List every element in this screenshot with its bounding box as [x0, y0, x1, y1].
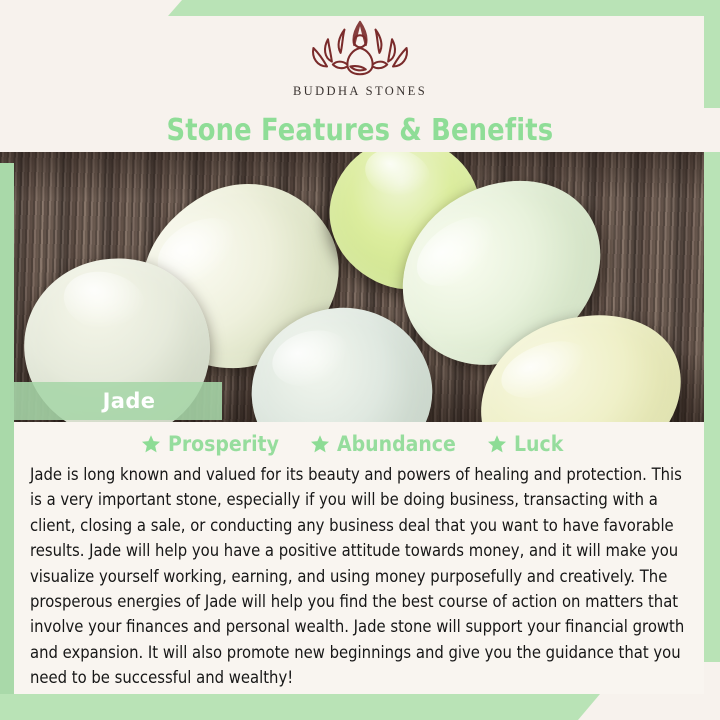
brand-header: BUDDHA STONES — [0, 0, 720, 112]
benefit-item: Prosperity — [141, 432, 291, 456]
stone-name-label: Jade — [77, 389, 156, 413]
benefit-item: Luck — [487, 432, 569, 456]
star-icon — [487, 434, 507, 454]
lotus-meditation-icon — [301, 16, 419, 82]
decorative-band-left — [0, 163, 14, 697]
stone-description: Jade is long known and valued for its be… — [30, 462, 688, 691]
page-title: Stone Features & Benefits — [167, 113, 554, 148]
brand-wordmark: BUDDHA STONES — [293, 84, 427, 99]
content-panel: Prosperity Abundance Luck Jade is long k… — [14, 422, 704, 694]
stone-name-band: Jade — [10, 382, 222, 420]
benefit-label: Prosperity — [168, 432, 279, 456]
benefits-row: Prosperity Abundance Luck — [30, 432, 688, 456]
star-icon — [310, 434, 330, 454]
benefit-label: Luck — [514, 432, 563, 456]
star-icon — [141, 434, 161, 454]
benefit-label: Abundance — [337, 432, 456, 456]
title-banner: Stone Features & Benefits — [0, 108, 720, 152]
benefit-item: Abundance — [310, 432, 469, 456]
decorative-band-bottom — [0, 694, 600, 720]
